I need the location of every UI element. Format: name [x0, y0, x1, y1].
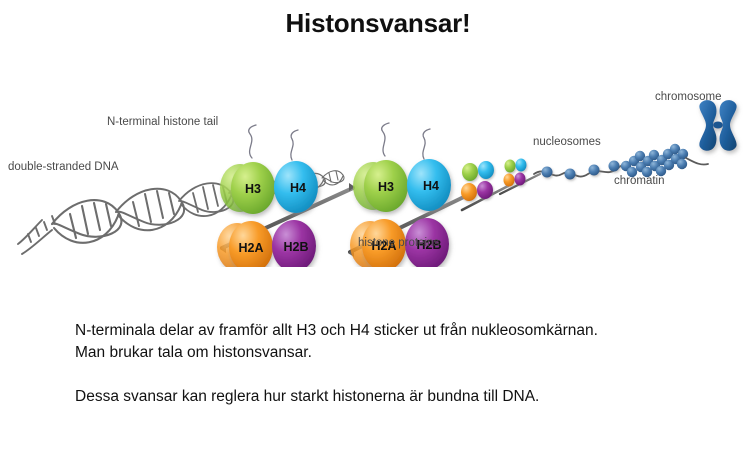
- body-paragraph-2-line-1: Dessa svansar kan reglera hur starkt his…: [75, 386, 715, 408]
- n-terminal-tails-2: [382, 123, 430, 159]
- label-nucleosomes: nucleosomes: [533, 136, 601, 148]
- n-terminal-tails-1: [249, 125, 298, 160]
- body-text-block: N-terminala delar av framför allt H3 och…: [75, 320, 715, 408]
- chromatin-bead-cluster: [621, 144, 708, 177]
- chromatin-packaging-diagram: double-stranded DNA H3 H4 H2A H2B N-term…: [0, 62, 756, 267]
- histone-label-h4-2: H4: [423, 179, 439, 193]
- paragraph-spacer: [75, 364, 715, 386]
- histone-label-h3-2: H3: [378, 180, 394, 194]
- chromosome-shape: [699, 100, 736, 151]
- histone-octamer-1: H3 H4 H2A H2B: [217, 161, 318, 267]
- body-paragraph-1-line-1: N-terminala delar av framför allt H3 och…: [75, 320, 715, 342]
- label-chromatin: chromatin: [614, 175, 665, 187]
- label-n-terminal-histone-tail: N-terminal histone tail: [107, 116, 218, 128]
- histone-label-h4: H4: [290, 181, 306, 195]
- histone-octamer-2: H3 H4 H2A H2B: [350, 159, 451, 267]
- body-paragraph-1-line-2: Man brukar tala om histonsvansar.: [75, 342, 715, 364]
- histone-octamer-4-small: [500, 159, 540, 195]
- histone-label-h2a: H2A: [238, 241, 263, 255]
- histone-label-h3: H3: [245, 182, 261, 196]
- histone-label-h2b: H2B: [283, 240, 308, 254]
- label-double-stranded-dna: double-stranded DNA: [8, 161, 119, 173]
- histone-octamer-3-small: [461, 161, 508, 210]
- label-histone-proteins: histone proteins: [358, 237, 439, 249]
- label-chromosome: chromosome: [655, 91, 721, 103]
- page-title: Histonsvansar!: [0, 8, 756, 39]
